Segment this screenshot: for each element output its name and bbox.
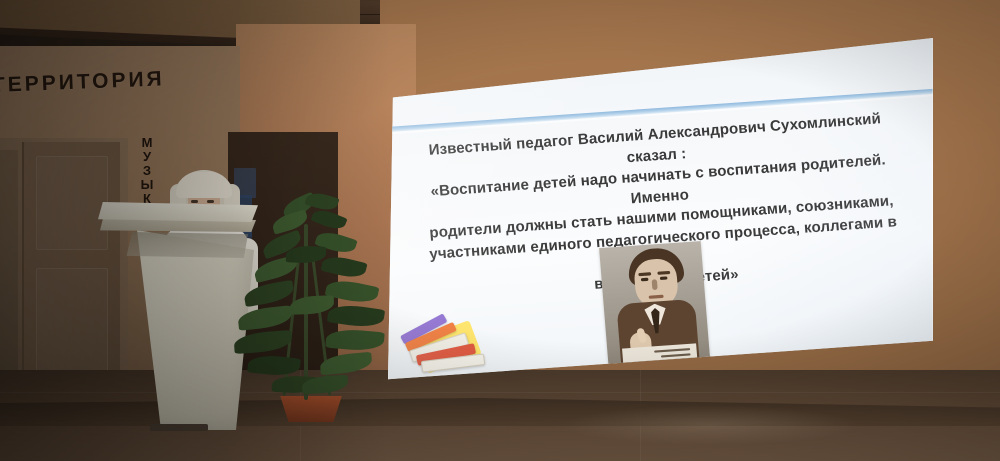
potted-plant [228, 180, 398, 432]
plant-pot [276, 396, 346, 422]
books-clipart-icon [394, 314, 490, 377]
sukhomlinsky-portrait-photo [599, 241, 710, 366]
floor-reflection [560, 405, 860, 445]
podium-base [150, 424, 208, 431]
presentation-room-photo: ТЕРРИТОРИЯ М У З Ы К И Известный педагог… [0, 0, 1000, 461]
projection-screen[interactable]: Известный педагог Василий Александрович … [388, 38, 933, 388]
secondary-door [0, 150, 18, 394]
wall-sign-music-letter: У [140, 150, 156, 164]
wall-sign-music-letter: М [140, 136, 156, 150]
